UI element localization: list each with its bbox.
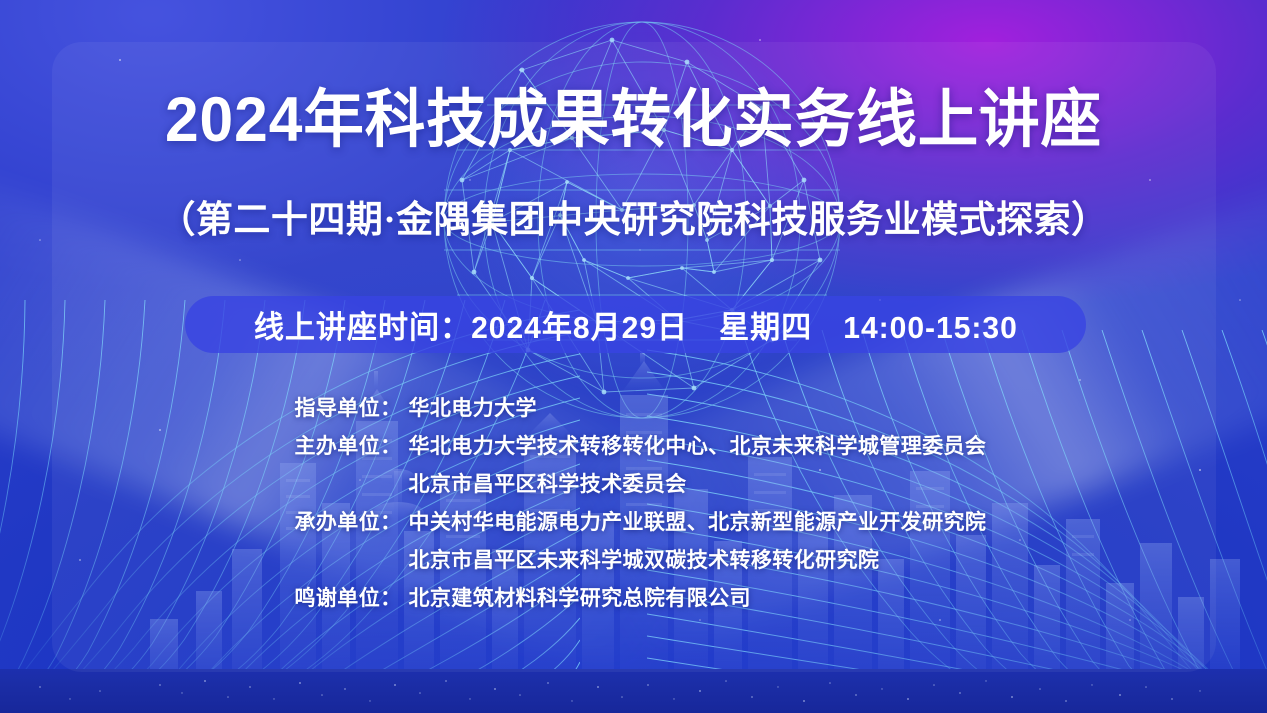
organizations-list: 指导单位： 华北电力大学 主办单位： 华北电力大学技术转移转化中心、北京未来科学… [0,390,1267,618]
org-label: 鸣谢单位： [284,580,402,618]
org-row-guidance: 指导单位： 华北电力大学 [284,390,984,428]
org-label: 指导单位： [284,390,402,428]
org-row-host-continued: 主办单位： 北京市昌平区科学技术委员会 [284,466,984,504]
org-value: 北京市昌平区未来科学城双碳技术转移转化研究院 [402,542,984,580]
org-value: 北京市昌平区科学技术委员会 [402,466,984,504]
org-row-organizer-continued: 承办单位： 北京市昌平区未来科学城双碳技术转移转化研究院 [284,542,984,580]
lecture-time-text: 线上讲座时间：2024年8月29日 星期四 14:00-15:30 [254,302,1018,347]
org-value: 北京建筑材料科学研究总院有限公司 [402,580,984,618]
poster-canvas: 2024年科技成果转化实务线上讲座 （第二十四期·金隅集团中央研究院科技服务业模… [0,0,1267,713]
org-label: 主办单位： [284,428,402,466]
org-value: 华北电力大学技术转移转化中心、北京未来科学城管理委员会 [402,428,987,466]
page-title: 2024年科技成果转化实务线上讲座 [25,89,1241,152]
org-row-acknowledgement: 鸣谢单位： 北京建筑材料科学研究总院有限公司 [284,580,984,618]
org-value: 中关村华电能源电力产业联盟、北京新型能源产业开发研究院 [402,504,987,542]
poster-content: 2024年科技成果转化实务线上讲座 （第二十四期·金隅集团中央研究院科技服务业模… [0,0,1267,713]
org-value: 华北电力大学 [402,390,984,428]
org-row-organizer: 承办单位： 中关村华电能源电力产业联盟、北京新型能源产业开发研究院 [284,504,984,542]
org-row-host: 主办单位： 华北电力大学技术转移转化中心、北京未来科学城管理委员会 [284,428,984,466]
org-label: 承办单位： [284,504,402,542]
lecture-time-banner: 线上讲座时间：2024年8月29日 星期四 14:00-15:30 [185,296,1086,353]
page-subtitle: （第二十四期·金隅集团中央研究院科技服务业模式探索） [0,202,1267,239]
